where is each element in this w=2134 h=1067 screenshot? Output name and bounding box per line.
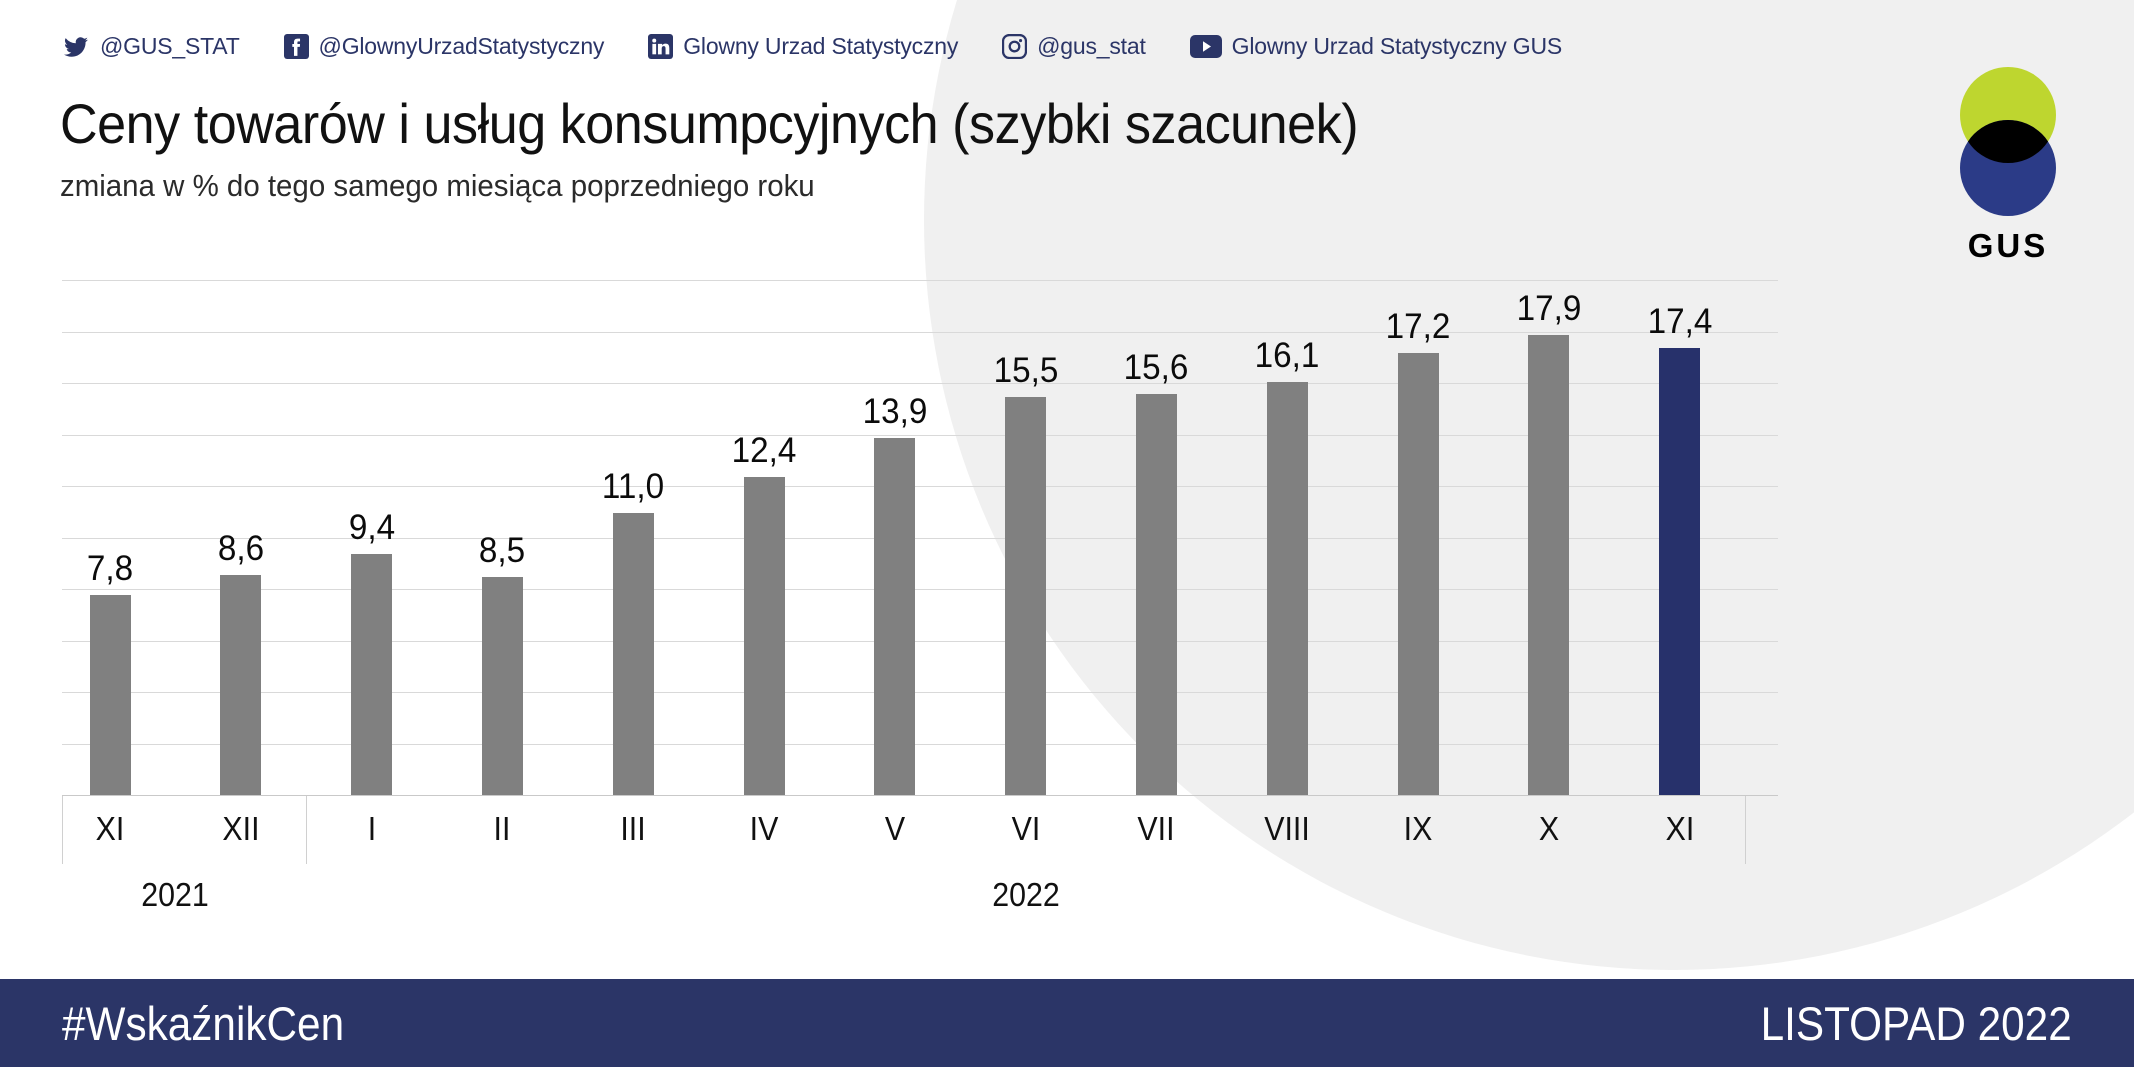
bar-value-label: 15,6 [1124, 348, 1189, 388]
facebook-icon [284, 34, 309, 59]
social-media-bar: @GUS_STAT @GlownyUrzadStatystyczny Glown… [62, 33, 1562, 60]
page-subtitle: zmiana w % do tego samego miesiąca poprz… [60, 168, 815, 204]
social-label-linkedin: Glowny Urzad Statystyczny [683, 33, 958, 60]
chart-value-labels: 7,88,69,48,511,012,413,915,515,616,117,2… [62, 276, 1778, 796]
bar-value-label: 16,1 [1255, 336, 1320, 376]
instagram-icon [1002, 34, 1027, 59]
bar-value-label: 17,9 [1516, 289, 1581, 329]
x-tick-xi-0: XI [96, 810, 125, 848]
gus-logo-text: GUS [1938, 227, 2078, 265]
x-tick-viii-9: VIII [1264, 810, 1310, 848]
social-label-youtube: Glowny Urzad Statystyczny GUS [1232, 33, 1562, 60]
bar-value-label: 17,2 [1386, 307, 1451, 347]
bar-value-label: 11,0 [602, 467, 664, 507]
bar-value-label: 9,4 [348, 508, 394, 548]
x-axis-separator-0 [62, 796, 63, 864]
social-item-youtube[interactable]: Glowny Urzad Statystyczny GUS [1190, 33, 1562, 60]
bar-value-label: 17,4 [1647, 302, 1712, 342]
x-tick-iv-5: IV [750, 810, 779, 848]
footer-period: LISTOPAD 2022 [1761, 996, 2072, 1051]
social-label-instagram: @gus_stat [1037, 33, 1146, 60]
x-tick-vi-7: VI [1011, 810, 1040, 848]
youtube-icon [1190, 35, 1222, 58]
x-tick-v-6: V [885, 810, 905, 848]
bar-value-label: 13,9 [862, 392, 927, 432]
x-axis-separator-2 [1745, 796, 1746, 864]
gus-logo-mark [1945, 63, 2071, 223]
footer-bar: #WskaźnikCen LISTOPAD 2022 [0, 979, 2134, 1067]
x-tick-ii-3: II [494, 810, 511, 848]
x-tick-iii-4: III [621, 810, 646, 848]
x-tick-vii-8: VII [1138, 810, 1175, 848]
gus-logo: GUS [1938, 63, 2078, 278]
x-tick-x-11: X [1539, 810, 1559, 848]
social-item-twitter[interactable]: @GUS_STAT [62, 33, 240, 60]
twitter-icon [62, 35, 90, 59]
bar-value-label: 8,6 [218, 529, 264, 569]
social-label-facebook: @GlownyUrzadStatystyczny [319, 33, 605, 60]
x-axis-separator-1 [306, 796, 307, 864]
social-label-twitter: @GUS_STAT [100, 33, 240, 60]
x-tick-xii-1: XII [222, 810, 259, 848]
linkedin-icon [648, 34, 673, 59]
bar-value-label: 12,4 [732, 431, 797, 471]
year-label-2022: 2022 [992, 876, 1060, 914]
social-item-instagram[interactable]: @gus_stat [1002, 33, 1146, 60]
social-item-linkedin[interactable]: Glowny Urzad Statystyczny [648, 33, 958, 60]
social-item-facebook[interactable]: @GlownyUrzadStatystyczny [284, 33, 605, 60]
year-label-2021: 2021 [142, 876, 210, 914]
chart-x-axis: XIXIIIIIIIIIVVVIVIIVIIIIXXXI [62, 796, 1778, 864]
footer-hashtag: #WskaźnikCen [62, 996, 344, 1051]
bar-value-label: 15,5 [993, 351, 1058, 391]
page-title: Ceny towarów i usług konsumpcyjnych (szy… [60, 95, 1358, 154]
x-tick-i-2: I [367, 810, 375, 848]
bar-value-label: 8,5 [479, 531, 525, 571]
bar-value-label: 7,8 [87, 549, 133, 589]
x-tick-ix-10: IX [1404, 810, 1433, 848]
x-tick-xi-12: XI [1665, 810, 1694, 848]
